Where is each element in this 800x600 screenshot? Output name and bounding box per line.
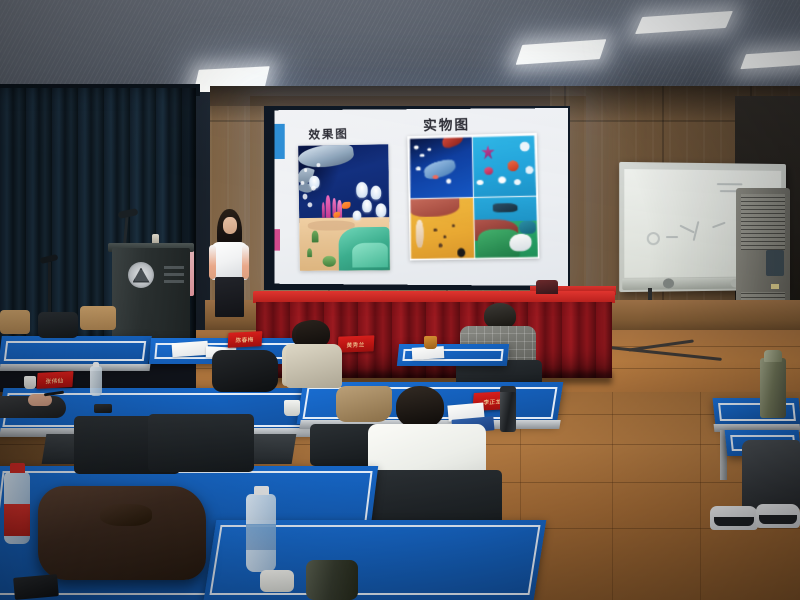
fish-icon [342, 201, 350, 209]
sneaker-left [710, 506, 758, 530]
chair-front-2[interactable] [148, 414, 254, 472]
sneaker-right [756, 504, 800, 528]
starfish-icon [481, 145, 495, 160]
presenter-face [223, 217, 237, 234]
attendee-right-legs [742, 440, 800, 512]
jellyfish-icon [356, 182, 368, 197]
paper-cup-2[interactable] [284, 400, 300, 416]
amber-tea-glass[interactable] [424, 336, 437, 349]
slide-caption-left: 效果图 [308, 125, 349, 143]
projection-screen[interactable]: 效果图 实物图 [264, 106, 570, 290]
nameplate-3: 张伟仙 [36, 371, 73, 389]
slide-accent-bar [274, 124, 284, 159]
water-bottle-2[interactable] [90, 366, 102, 396]
stapler-icon[interactable] [94, 404, 112, 413]
chair-back-left[interactable] [38, 312, 78, 338]
classroom-scene: 效果图 实物图 [0, 0, 800, 600]
slide-accent-bar-2 [274, 229, 280, 250]
slide-artwork-left [298, 144, 390, 271]
green-thermos-front[interactable] [306, 560, 358, 600]
slide-caption-right: 实物图 [423, 114, 470, 135]
nameplate-2-text: 黄秀兰 [347, 339, 366, 348]
coral-icon [326, 195, 331, 218]
presenter-arm-right [242, 245, 249, 279]
tan-bag[interactable] [336, 386, 392, 422]
smartphone[interactable] [13, 574, 59, 600]
desk-far-right-1[interactable] [713, 398, 800, 426]
bottle-label [4, 504, 30, 536]
slide-artwork-right [407, 133, 539, 261]
plant-icon [312, 231, 318, 242]
collage-quadrant-1 [410, 137, 473, 198]
ac-led-icon [771, 284, 779, 289]
presenter-arm-left [209, 245, 216, 279]
black-shoulder-bag[interactable] [212, 350, 278, 392]
stage-chair-back [536, 280, 558, 294]
collage-quadrant-3 [411, 198, 474, 260]
nameplate-1: 陈春梅 [228, 331, 263, 348]
attendee-white-head [396, 386, 444, 428]
collage-quadrant-4 [473, 196, 538, 258]
green-thermos[interactable] [760, 358, 786, 418]
ac-display-panel[interactable] [766, 250, 784, 276]
presenter-skirt [215, 277, 244, 317]
school-crest-icon [128, 262, 154, 288]
photo-collage [410, 136, 538, 259]
desk-back-left[interactable] [0, 336, 152, 366]
tissue-item [260, 570, 294, 592]
chair-wood-back[interactable] [80, 306, 116, 330]
attendee-grey-shirt [286, 344, 342, 388]
nameplate-1-text: 陈春梅 [236, 335, 255, 345]
black-thermos[interactable] [500, 390, 516, 432]
water-bottle-3[interactable] [246, 494, 276, 572]
water-bottle-1[interactable] [4, 472, 30, 544]
paper-cup-1[interactable] [24, 376, 36, 389]
nameplate-3-text: 张伟仙 [46, 375, 65, 385]
nameplate-2: 黄秀兰 [338, 335, 375, 352]
collage-quadrant-2 [472, 136, 536, 197]
brown-leather-bag[interactable] [38, 486, 206, 580]
bottle-cap-red [10, 463, 25, 473]
presenter [206, 209, 252, 315]
wall-upper-trim [210, 86, 550, 106]
projected-slide: 效果图 实物图 [274, 108, 568, 286]
documents[interactable] [172, 341, 209, 357]
whiteboard-knob-icon [663, 278, 674, 288]
